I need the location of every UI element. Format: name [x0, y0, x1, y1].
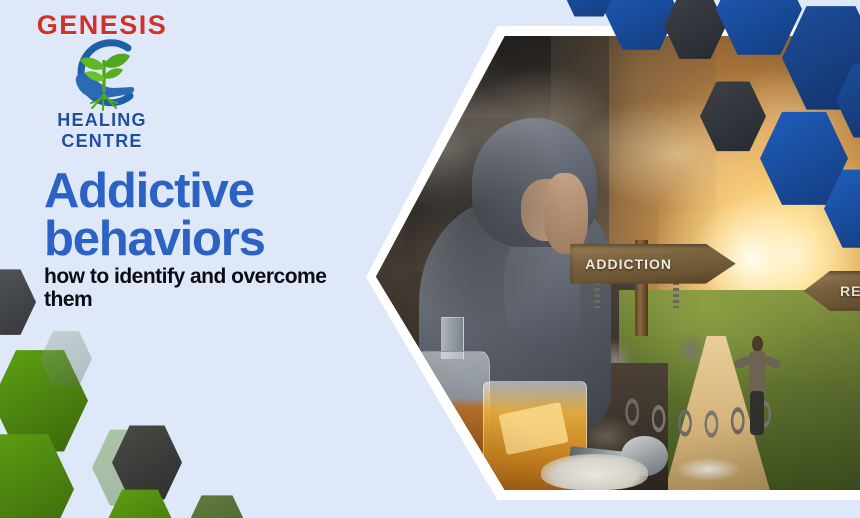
addiction-vs-recovery-hexagon-photo: ADDICTION RECOVERY [366, 26, 860, 500]
hex-bl-7-icon [40, 330, 92, 387]
logo-sub-wordmark: HEALING CENTRE [14, 110, 190, 152]
hex-bl-3-icon [92, 428, 164, 507]
plant-in-hand-icon [58, 38, 150, 112]
hex-bl-0-icon [0, 268, 36, 336]
photo-vignette [376, 36, 860, 490]
photo-content: ADDICTION RECOVERY [376, 36, 860, 490]
page-title-line1: Addictive [44, 164, 254, 218]
hex-bl-2-icon [0, 432, 74, 518]
logo-wordmark: GENESIS [14, 10, 190, 41]
hex-tr-9-icon [560, 0, 618, 18]
hex-bl-6-icon [186, 494, 248, 518]
addiction-article-banner: ADDICTION RECOVERY GENESIS [0, 0, 860, 518]
genesis-healing-centre-logo[interactable]: GENESIS HEALING CENTRE [14, 6, 190, 140]
hex-bl-1-icon [0, 348, 88, 454]
page-title-line2: behaviors [44, 216, 374, 264]
page-subtitle: how to identify and overcome them [44, 266, 374, 311]
hex-bl-4-icon [112, 424, 182, 501]
page-title: Addictive behaviors [44, 168, 374, 263]
headline-block: Addictive behaviors how to identify and … [44, 168, 374, 311]
hex-bl-5-icon [104, 488, 176, 518]
